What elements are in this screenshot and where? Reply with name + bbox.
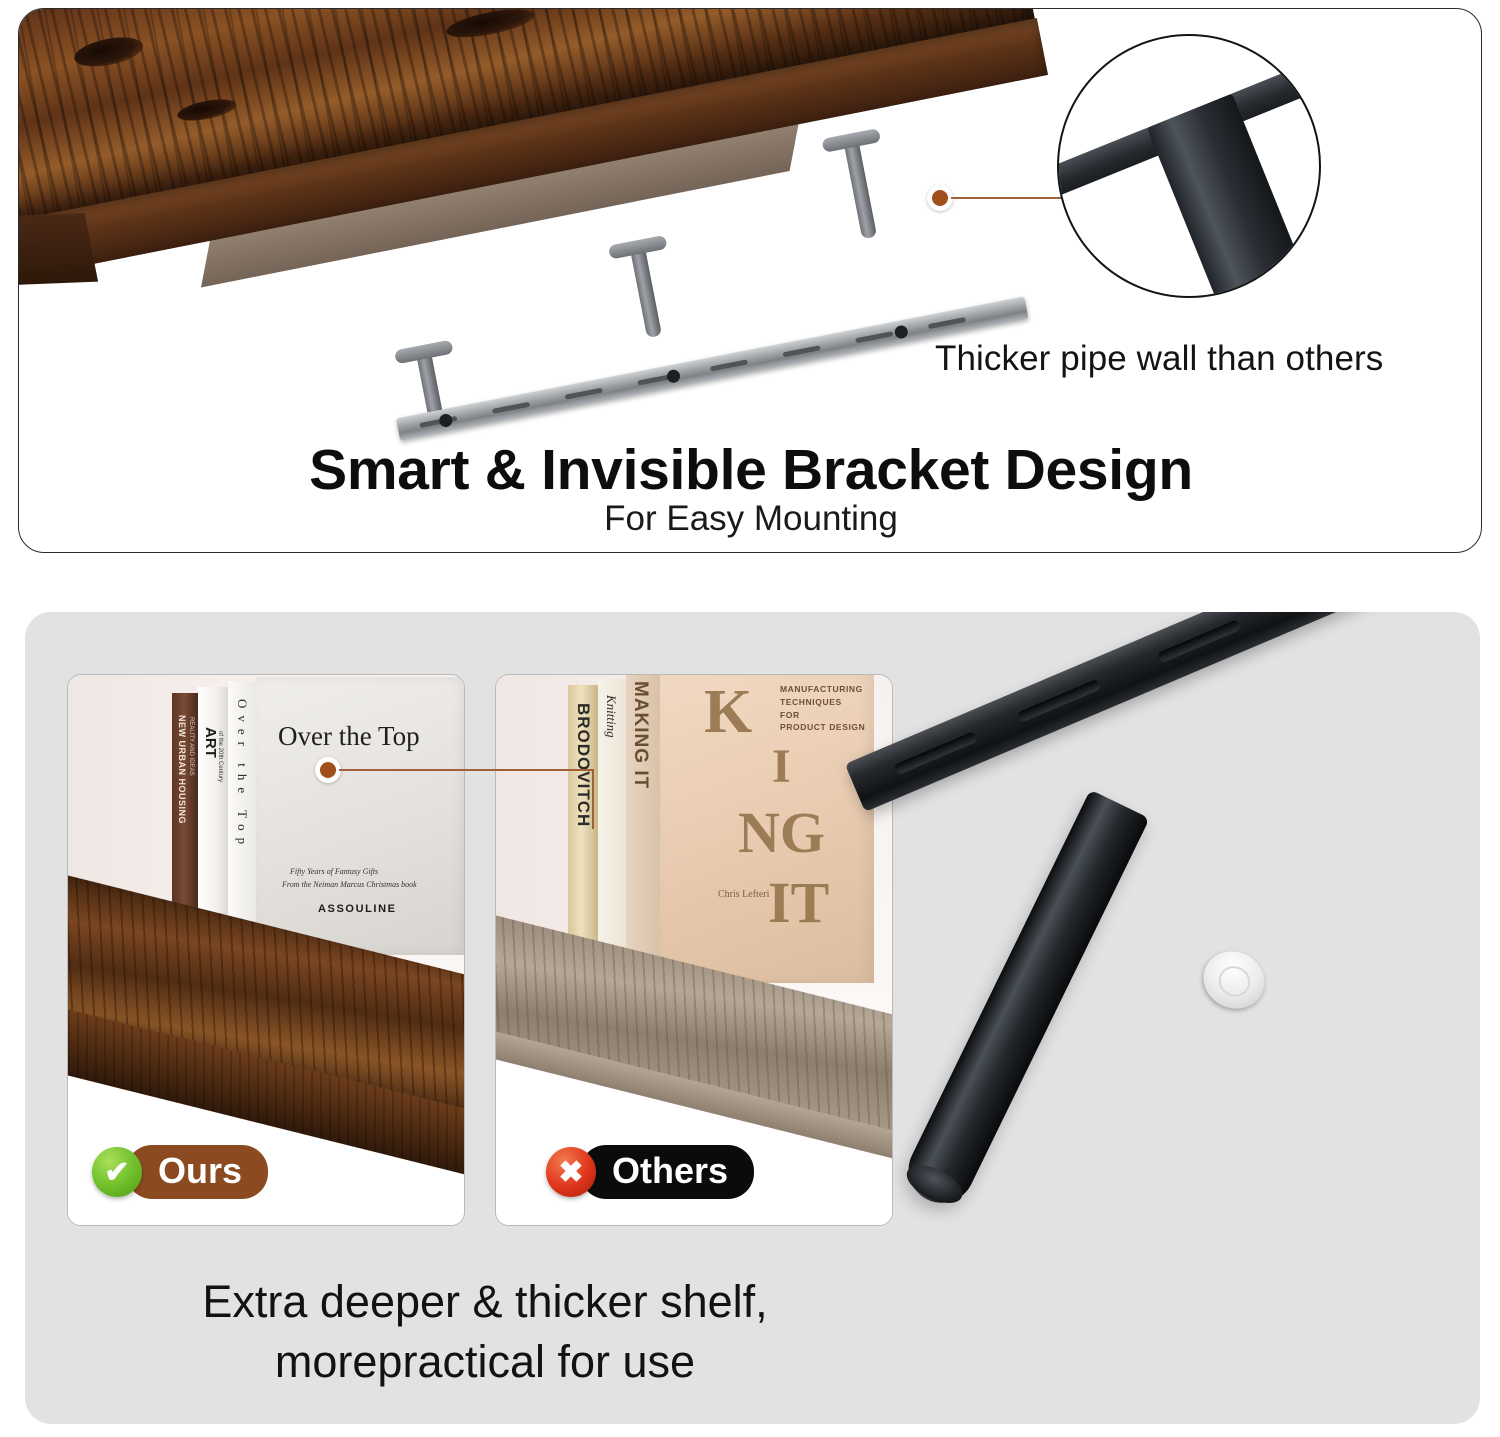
military-iron-callout-dot <box>315 757 341 783</box>
book-making-it-spine: MAKING IT <box>626 675 660 981</box>
bracket-rail-bar <box>396 296 1029 441</box>
comparison-photo-ours: NEW URBAN HOUSING REALITY AND IDEAS ART … <box>67 674 465 1226</box>
book-brodovitch: BRODOVITCH <box>568 685 598 977</box>
pipe-wall-caption: Thicker pipe wall than others <box>935 339 1383 379</box>
pipe-wall-leader-line <box>951 197 1063 199</box>
product-feature-image: Thicker pipe wall than others Smart & In… <box>0 0 1500 1437</box>
military-iron-leader-h <box>339 769 594 771</box>
book-over-the-top-cover: Over the Top Fifty Years of Fantasy Gift… <box>256 677 465 955</box>
bracket-rod-middle <box>630 245 662 338</box>
pipe-wall-magnifier <box>1057 34 1321 298</box>
check-icon: ✔ <box>92 1147 142 1197</box>
page-subheadline: For Easy Mounting <box>19 499 1482 539</box>
page-headline: Smart & Invisible Bracket Design <box>19 437 1482 503</box>
badge-ours: ✔ Ours <box>92 1145 268 1199</box>
badge-others: ✖ Others <box>546 1145 754 1199</box>
comparison-caption-line1: Extra deeper & thicker shelf, <box>85 1272 885 1332</box>
badge-ours-label: Ours <box>126 1145 268 1199</box>
bottom-panel-comparison: NEW URBAN HOUSING REALITY AND IDEAS ART … <box>25 612 1480 1424</box>
cover-letter-i: I <box>772 739 791 794</box>
bracket-flange-plate <box>845 612 1454 812</box>
badge-others-label: Others <box>580 1145 754 1199</box>
cross-icon: ✖ <box>546 1147 596 1197</box>
cover-author: Chris Lefteri <box>718 889 769 900</box>
shelf-left-edge <box>18 213 98 287</box>
cover-letter-k: K <box>704 677 752 748</box>
pipe-wall-callout-dot <box>927 185 953 211</box>
rubber-stopper <box>1194 941 1274 1019</box>
book-knitting: Knitting <box>598 679 626 979</box>
black-t-bracket-illustration <box>795 612 1480 1302</box>
comparison-caption-line2: morepractical for use <box>85 1332 885 1392</box>
magnified-tube <box>1147 94 1321 298</box>
bracket-support-rod <box>897 790 1149 1214</box>
military-iron-leader-v <box>592 769 594 829</box>
rod-open-end <box>901 1158 968 1211</box>
book-over-the-top-spine: Over the Top <box>228 681 256 951</box>
top-panel-bracket-design: Thicker pipe wall than others Smart & In… <box>18 8 1482 553</box>
bracket-rod-right <box>843 138 877 239</box>
comparison-caption: Extra deeper & thicker shelf, morepracti… <box>85 1272 885 1393</box>
